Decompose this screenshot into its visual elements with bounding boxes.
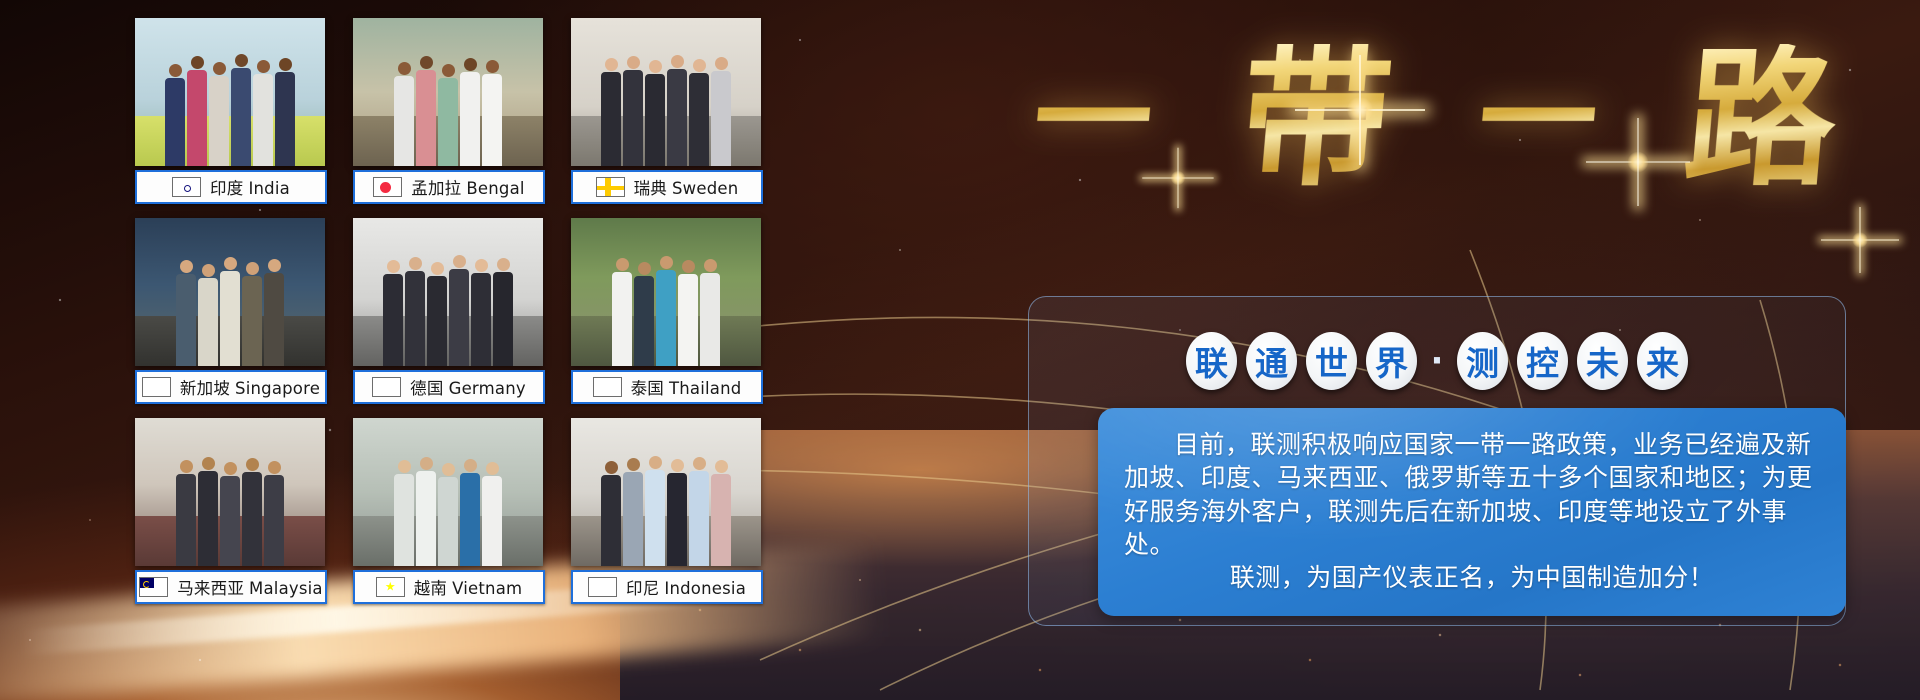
country-label[interactable]: 马来西亚Malaysia xyxy=(135,570,327,604)
flag-malaysia-icon xyxy=(139,577,168,597)
country-label-text: 瑞典Sweden xyxy=(634,175,739,199)
slogan-bead: 来 xyxy=(1637,332,1688,390)
country-label-text: 印度India xyxy=(210,175,290,199)
country-label[interactable]: 新加坡Singapore xyxy=(135,370,327,404)
gallery-item[interactable]: 印度India xyxy=(135,18,325,204)
description-box: 目前，联测积极响应国家一带一路政策，业务已经遍及新加坡、印度、马来西亚、俄罗斯等… xyxy=(1098,408,1846,616)
country-label[interactable]: 孟加拉Bengal xyxy=(353,170,545,204)
flag-singapore-icon xyxy=(142,377,171,397)
country-label-text: 泰国Thailand xyxy=(631,375,742,399)
slogan-row: 联 通 世 界 · 测 控 未 来 xyxy=(1028,322,1846,400)
gallery-item[interactable]: 瑞典Sweden xyxy=(571,18,761,204)
gallery-item[interactable]: 新加坡Singapore xyxy=(135,218,325,404)
slogan-bead: 未 xyxy=(1577,332,1628,390)
team-photo-thailand xyxy=(571,218,761,366)
country-label[interactable]: 泰国Thailand xyxy=(571,370,763,404)
headline-char-2: 带 xyxy=(1234,44,1397,194)
gallery-item[interactable]: 孟加拉Bengal xyxy=(353,18,543,204)
gallery-item[interactable]: 印尼Indonesia xyxy=(571,418,761,604)
flag-bangladesh-icon xyxy=(373,177,402,197)
team-photo-india xyxy=(135,18,325,166)
slogan-bead: 测 xyxy=(1457,332,1508,390)
description-paragraph-1: 目前，联测积极响应国家一带一路政策，业务已经遍及新加坡、印度、马来西亚、俄罗斯等… xyxy=(1124,428,1820,561)
country-label[interactable]: 瑞典Sweden xyxy=(571,170,763,204)
team-photo-bengal xyxy=(353,18,543,166)
country-label[interactable]: 印度India xyxy=(135,170,327,204)
gallery-item[interactable]: 越南Vietnam xyxy=(353,418,543,604)
country-label[interactable]: 印尼Indonesia xyxy=(571,570,763,604)
gallery-item[interactable]: 德国Germany xyxy=(353,218,543,404)
country-label[interactable]: 越南Vietnam xyxy=(353,570,545,604)
country-label[interactable]: 德国Germany xyxy=(353,370,545,404)
slogan-bead: 世 xyxy=(1306,332,1357,390)
country-label-text: 马来西亚Malaysia xyxy=(177,575,323,599)
team-photo-indonesia xyxy=(571,418,761,566)
team-photo-germany xyxy=(353,218,543,366)
headline-calligraphy: 一 带 一 路 xyxy=(1020,14,1850,224)
headline-char-1: 一 xyxy=(1029,60,1157,178)
team-photo-vietnam xyxy=(353,418,543,566)
country-photo-grid: 印度India 孟加拉Bengal xyxy=(135,18,761,604)
flag-india-icon xyxy=(172,177,201,197)
flag-vietnam-icon xyxy=(376,577,405,597)
team-photo-malaysia xyxy=(135,418,325,566)
gallery-item[interactable]: 马来西亚Malaysia xyxy=(135,418,325,604)
team-photo-singapore xyxy=(135,218,325,366)
flag-indonesia-icon xyxy=(588,577,617,597)
slogan-bead: 通 xyxy=(1246,332,1297,390)
slogan-bead: 控 xyxy=(1517,332,1568,390)
headline-char-4: 路 xyxy=(1679,44,1842,194)
slogan-bead: 联 xyxy=(1186,332,1237,390)
description-paragraph-2: 联测，为国产仪表正名，为中国制造加分！ xyxy=(1124,561,1820,594)
country-label-text: 越南Vietnam xyxy=(414,575,523,599)
slogan-separator-dot: · xyxy=(1426,341,1448,381)
team-photo-sweden xyxy=(571,18,761,166)
country-label-text: 德国Germany xyxy=(410,375,526,399)
headline-char-3: 一 xyxy=(1474,60,1602,178)
banner-stage: 印度India 孟加拉Bengal xyxy=(0,0,1920,700)
country-label-text: 新加坡Singapore xyxy=(180,375,320,399)
flag-sweden-icon xyxy=(596,177,625,197)
country-label-text: 孟加拉Bengal xyxy=(411,175,524,199)
slogan-bead: 界 xyxy=(1366,332,1417,390)
country-label-text: 印尼Indonesia xyxy=(626,575,746,599)
flag-thailand-icon xyxy=(593,377,622,397)
flag-germany-icon xyxy=(372,377,401,397)
gallery-item[interactable]: 泰国Thailand xyxy=(571,218,761,404)
